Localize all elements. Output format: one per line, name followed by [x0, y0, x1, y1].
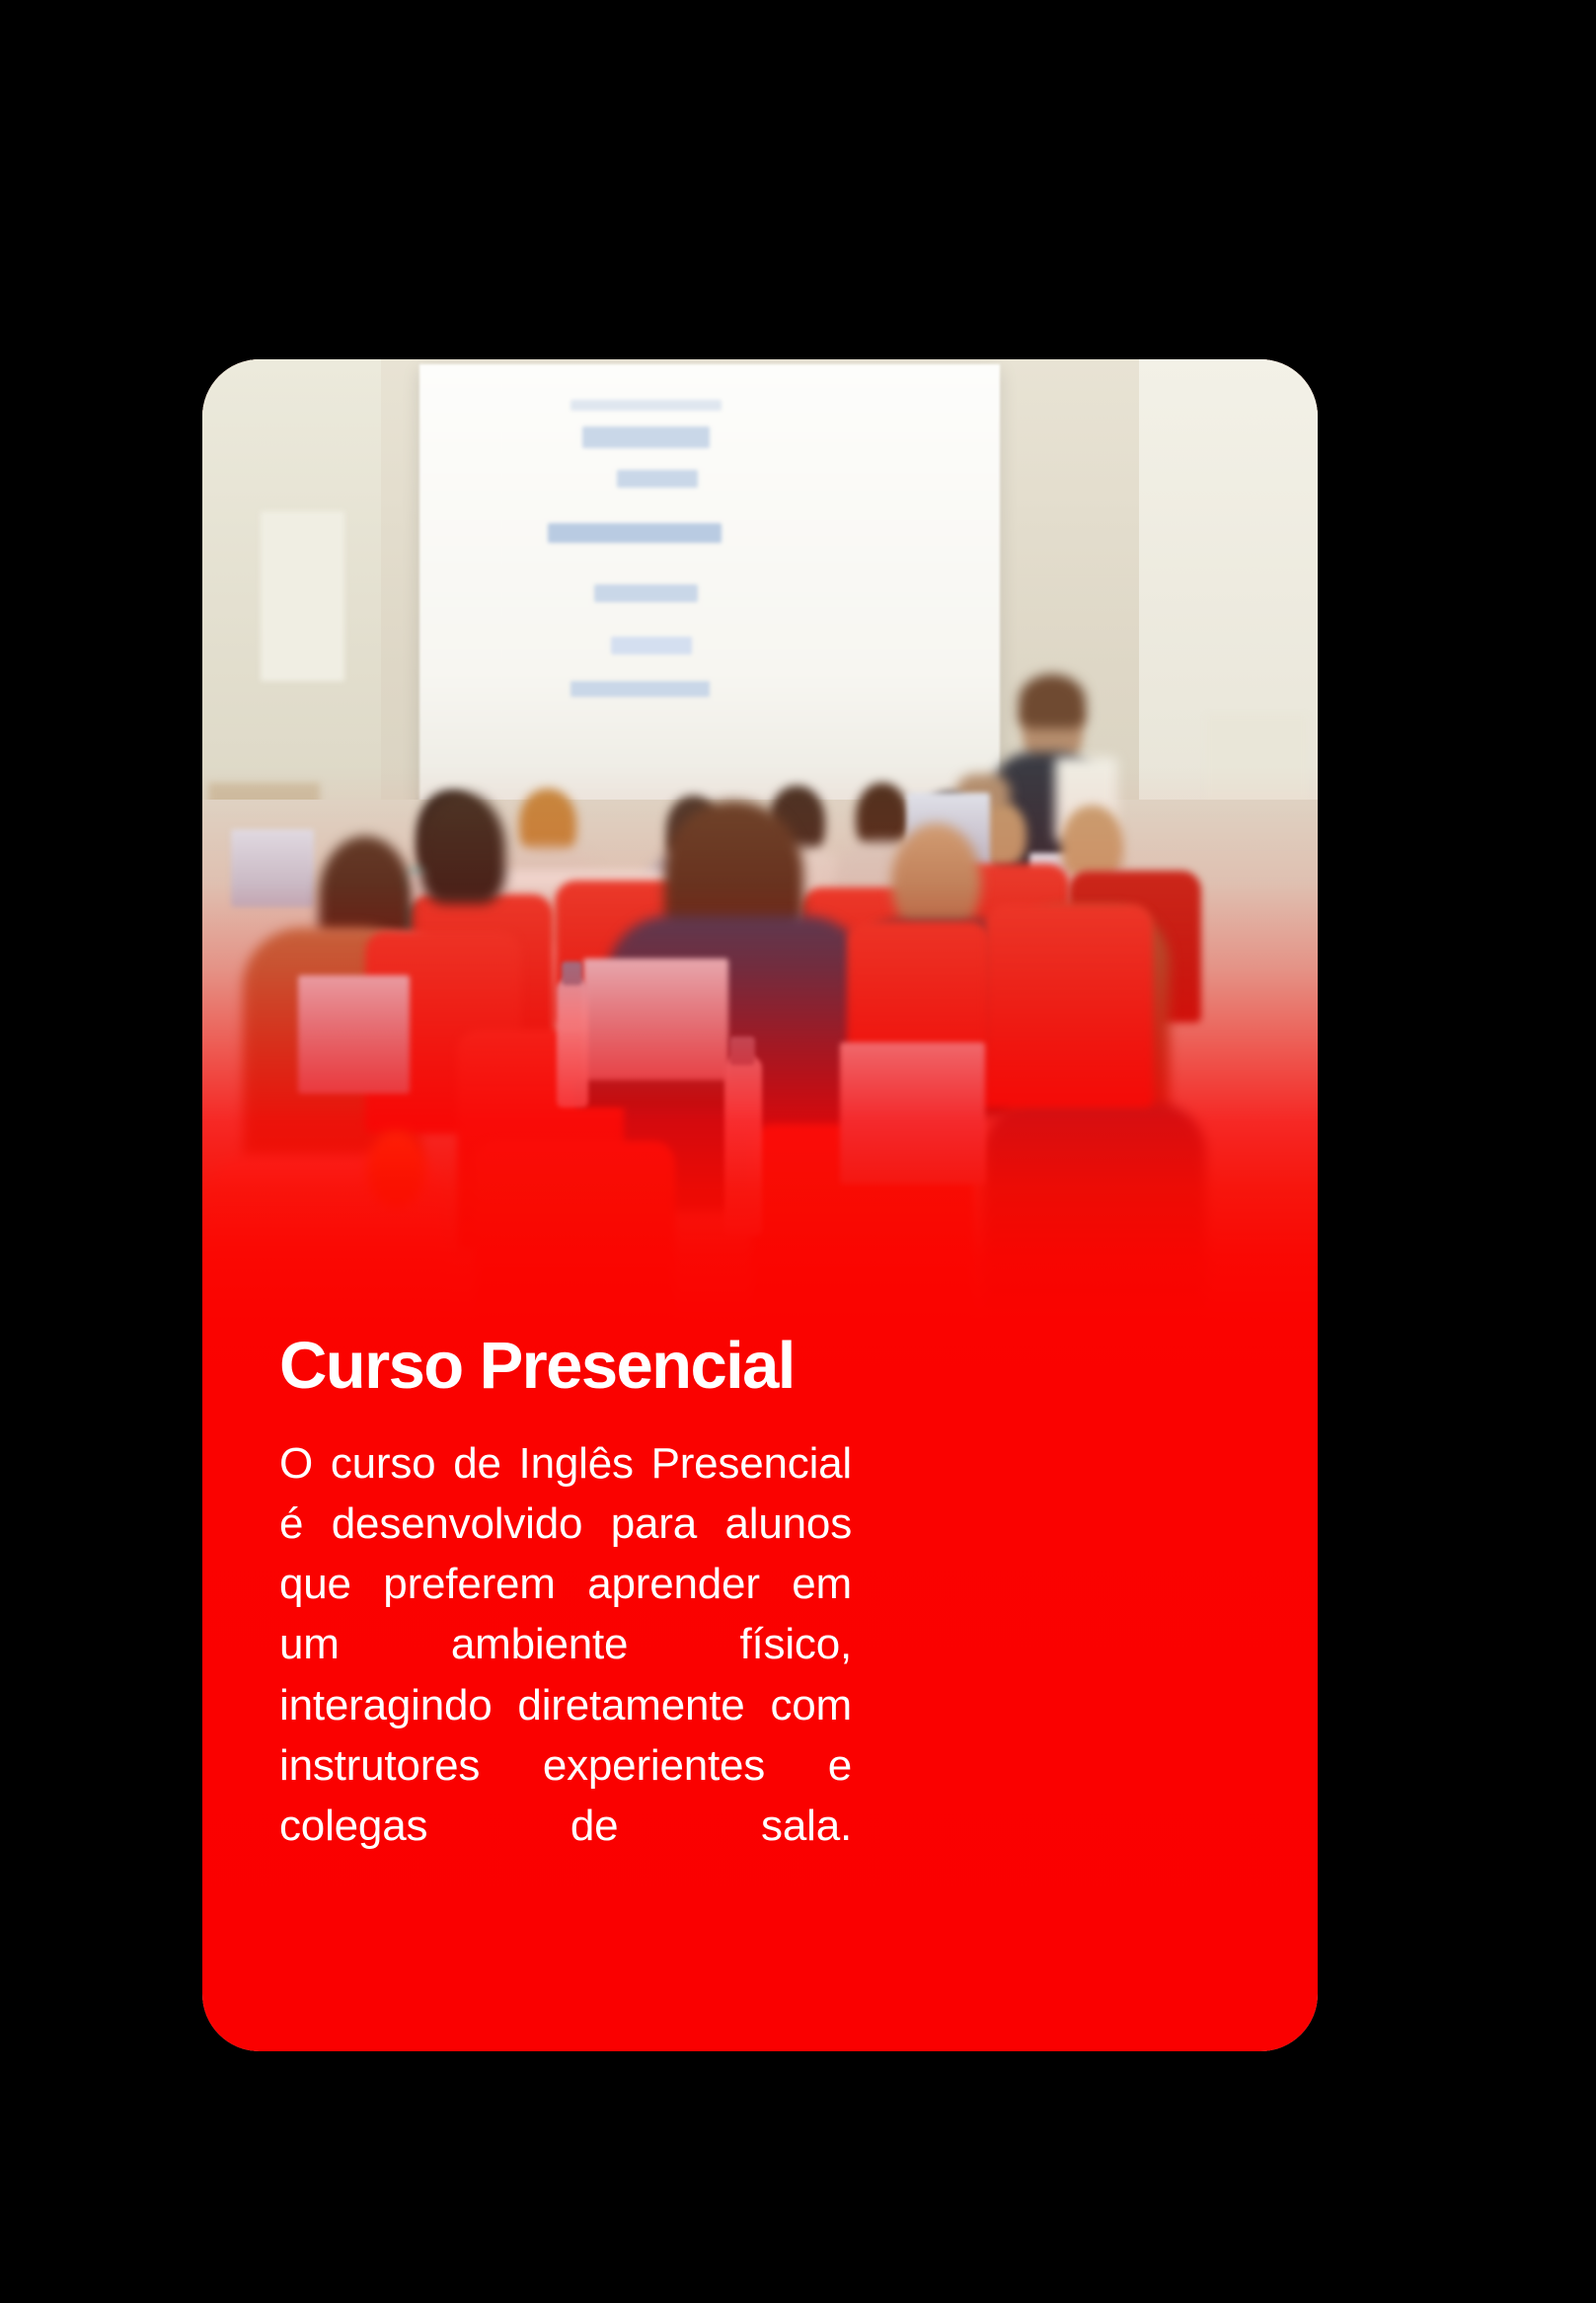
card-content: Curso Presencial O curso de Inglês Prese… — [279, 1333, 1245, 1916]
card-title: Curso Presencial — [279, 1333, 1245, 1399]
page-background: Curso Presencial O curso de Inglês Prese… — [0, 0, 1596, 2303]
curso-presencial-card[interactable]: Curso Presencial O curso de Inglês Prese… — [202, 359, 1318, 2051]
card-description: O curso de Inglês Presencial é desenvolv… — [279, 1433, 852, 1916]
